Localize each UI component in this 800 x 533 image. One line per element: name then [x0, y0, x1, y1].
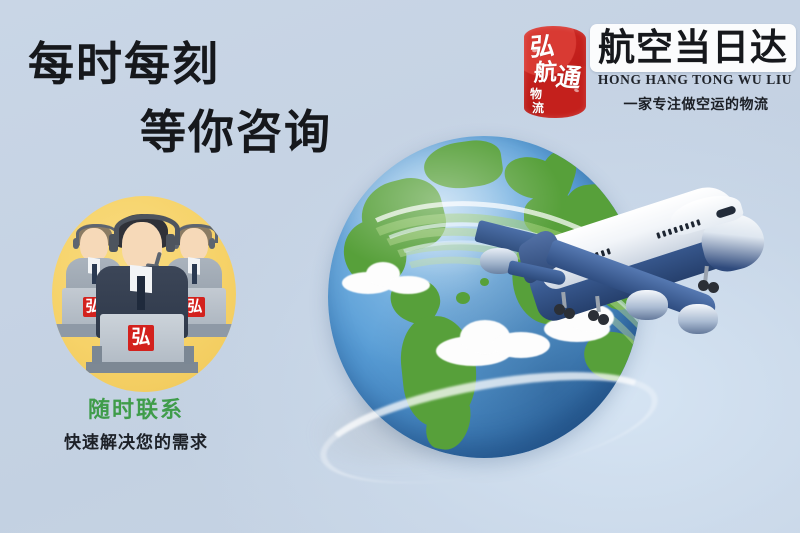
- caption-secondary: 快速解决您的需求: [64, 428, 208, 453]
- engine-near-outer: [678, 304, 718, 334]
- main-wheel-b: [564, 308, 575, 319]
- desk-leg-right: [184, 346, 194, 364]
- seal-char-4: 物: [530, 88, 542, 100]
- nose-wheel-b: [708, 282, 719, 293]
- caption-primary: 随时联系: [88, 392, 184, 424]
- logo-pinyin: HONG HANG TONG WU LIU: [590, 72, 800, 88]
- headline-line-1: 每时每刻: [28, 28, 220, 94]
- cloud-left-c: [386, 276, 430, 294]
- logo-main-title: 航空当日达: [598, 26, 796, 70]
- globe-plane-illustration: [300, 130, 800, 520]
- seal-char-3: 通: [554, 65, 583, 92]
- laptop-logo-center: 弘: [128, 325, 154, 351]
- call-center-badge: 弘 弘: [52, 196, 236, 392]
- poster-canvas: 每时每刻 等你咨询 弘 航 通 物 流 航空当日达 HONG HANG TONG…: [0, 0, 800, 533]
- brand-logo-lockup: 弘 航 通 物 流 航空当日达 HONG HANG TONG WU LIU 一家…: [524, 24, 796, 124]
- desk-front: [86, 362, 198, 373]
- seal-char-5: 流: [532, 102, 544, 114]
- seal-char-2: 航: [533, 60, 557, 84]
- main-wheel-d: [598, 314, 609, 325]
- cargo-airplane-icon: [500, 140, 800, 370]
- seal-char-1: 弘: [529, 34, 555, 61]
- company-seal-icon: 弘 航 通 物 流: [524, 26, 586, 118]
- landmass-greenland: [421, 137, 505, 193]
- logo-tagline: 一家专注做空运的物流: [590, 94, 800, 114]
- laptop-logo-right: 弘: [185, 297, 205, 317]
- engine-near-inner: [626, 290, 668, 320]
- agents-scene: 弘 弘: [52, 196, 236, 392]
- desk-leg-left: [92, 346, 102, 364]
